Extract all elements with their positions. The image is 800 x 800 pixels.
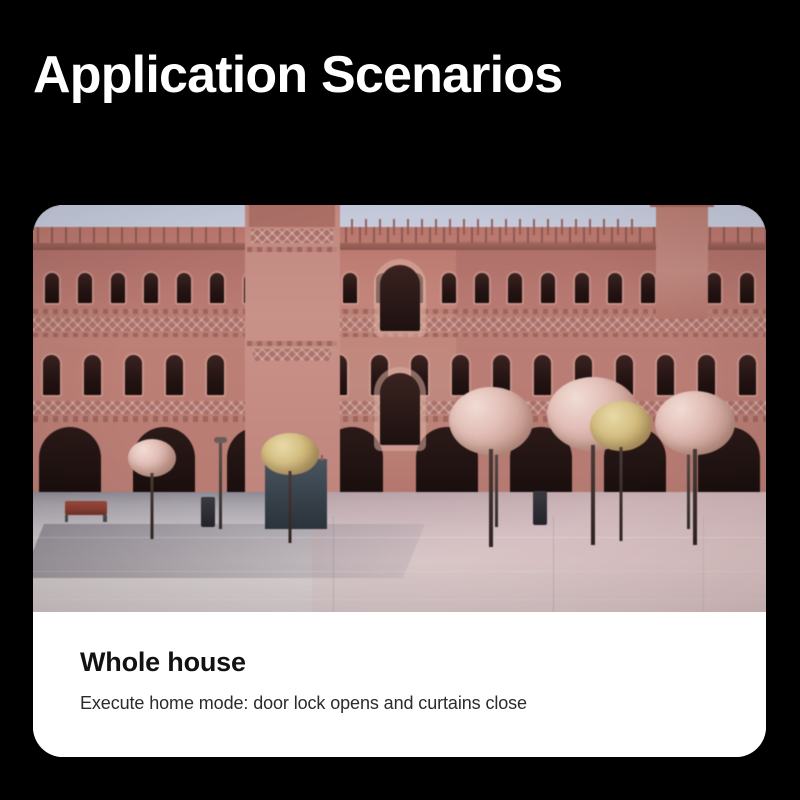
plaza-shadow <box>33 524 425 578</box>
arch-window <box>707 273 721 303</box>
arch-window <box>475 273 489 303</box>
tree-crown <box>449 387 533 455</box>
arch-window <box>739 355 756 395</box>
arch-window <box>125 355 142 395</box>
tower-arch-lower <box>380 373 420 445</box>
tree-trunk <box>620 447 623 541</box>
arch-window <box>177 273 191 303</box>
arch-window <box>541 273 555 303</box>
arch-window <box>575 273 589 303</box>
arch-window <box>740 273 754 303</box>
arch-window <box>442 273 456 303</box>
lamp-head-icon <box>214 437 227 443</box>
arch-window <box>43 355 60 395</box>
right-tower <box>656 205 708 319</box>
arch-window <box>207 355 224 395</box>
paving-line <box>33 599 766 600</box>
brick-band-mid <box>33 333 766 337</box>
tree-trunk <box>693 449 697 545</box>
page-title: Application Scenarios <box>33 47 562 103</box>
arch-window <box>84 355 101 395</box>
tree-trunk <box>151 473 154 539</box>
tree-crown <box>128 439 176 477</box>
blossom-tree <box>443 387 539 547</box>
arch-window <box>657 355 674 395</box>
plaza-bench-legs <box>65 515 107 522</box>
blossom-tree <box>649 391 741 545</box>
blossom-tree <box>123 439 181 539</box>
blossom-tree <box>585 401 657 541</box>
arch-window <box>608 273 622 303</box>
paving-line <box>33 571 766 572</box>
roof-merlons-center <box>333 219 633 235</box>
central-tower-cap <box>249 205 335 227</box>
page-root: Application Scenarios <box>0 0 800 800</box>
scenario-card-body: Whole house Execute home mode: door lock… <box>33 612 766 757</box>
tower-arch-upper <box>380 265 420 331</box>
scenario-title: Whole house <box>80 648 766 678</box>
scenario-image <box>33 205 766 612</box>
right-tower-cap <box>650 205 714 207</box>
arch-window <box>210 273 224 303</box>
arch-window <box>641 273 655 303</box>
tree-crown <box>261 433 319 475</box>
arch-window <box>343 273 357 303</box>
arch-window <box>78 273 92 303</box>
arch-window <box>45 273 59 303</box>
tree-trunk <box>489 449 493 547</box>
tree-crown <box>590 401 652 451</box>
blossom-tree <box>255 433 325 543</box>
arch-window <box>144 273 158 303</box>
tree-crown <box>655 391 735 455</box>
scenario-card[interactable]: Whole house Execute home mode: door lock… <box>33 205 766 757</box>
scenario-subtitle: Execute home mode: door lock opens and c… <box>80 692 766 715</box>
arch-window <box>508 273 522 303</box>
plaza-bench <box>65 501 107 515</box>
paving-line <box>333 516 334 612</box>
tower-lattice-upper <box>251 229 333 243</box>
trash-bin <box>201 497 215 527</box>
arch-window <box>166 355 183 395</box>
tree-trunk <box>289 471 292 543</box>
tower-band-mid <box>247 341 337 346</box>
arch-window <box>111 273 125 303</box>
tower-lattice-mid <box>253 349 331 361</box>
lamp-post <box>219 441 222 529</box>
tower-band-upper <box>247 247 337 252</box>
arch-window <box>698 355 715 395</box>
